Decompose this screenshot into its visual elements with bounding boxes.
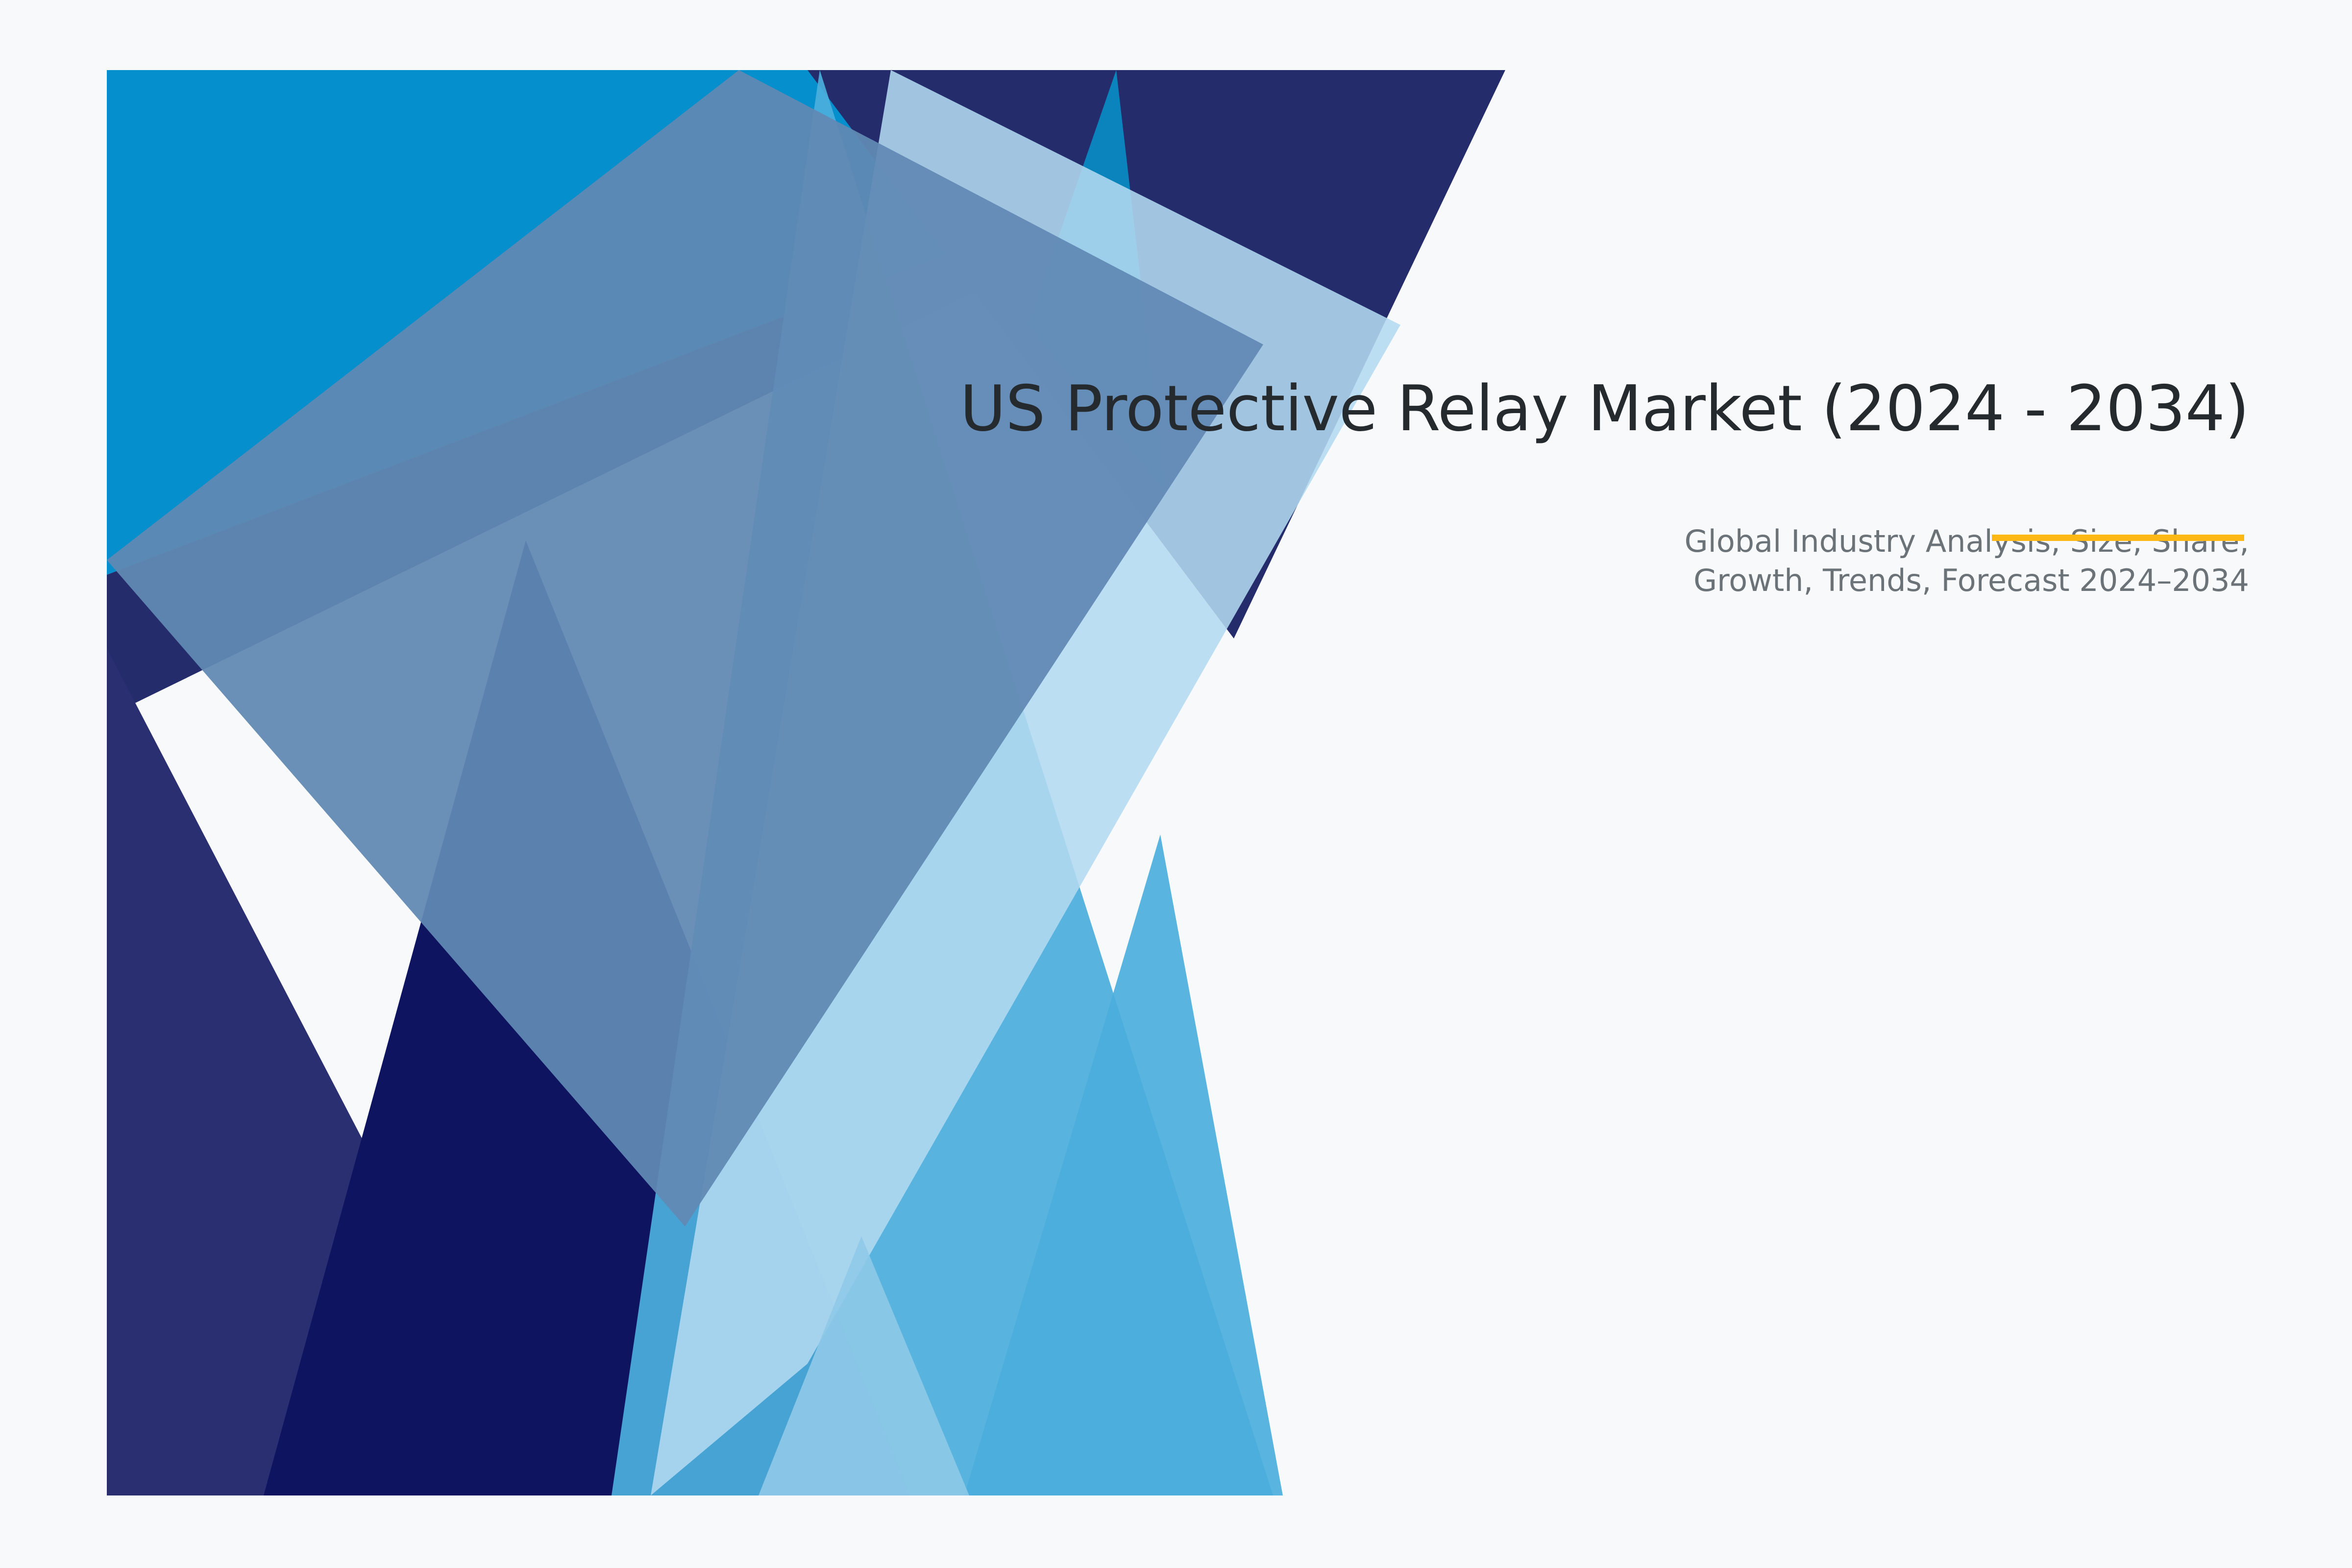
abstract-polygon-graphic — [107, 70, 1505, 1495]
subtitle-line-1: Global Industry Analysis, Size, Share, — [911, 522, 2249, 562]
page-subtitle: Global Industry Analysis, Size, Share, G… — [911, 522, 2249, 601]
page-title: US Protective Relay Market (2024 - 2034) — [911, 372, 2249, 446]
headline-block: US Protective Relay Market (2024 - 2034)… — [911, 372, 2249, 601]
subtitle-line-2: Growth, Trends, Forecast 2024–2034 — [911, 561, 2249, 601]
decorative-artwork-panel — [107, 70, 1505, 1495]
title-accent-underline — [1992, 535, 2244, 541]
title-slide: US Protective Relay Market (2024 - 2034)… — [0, 0, 2352, 1568]
